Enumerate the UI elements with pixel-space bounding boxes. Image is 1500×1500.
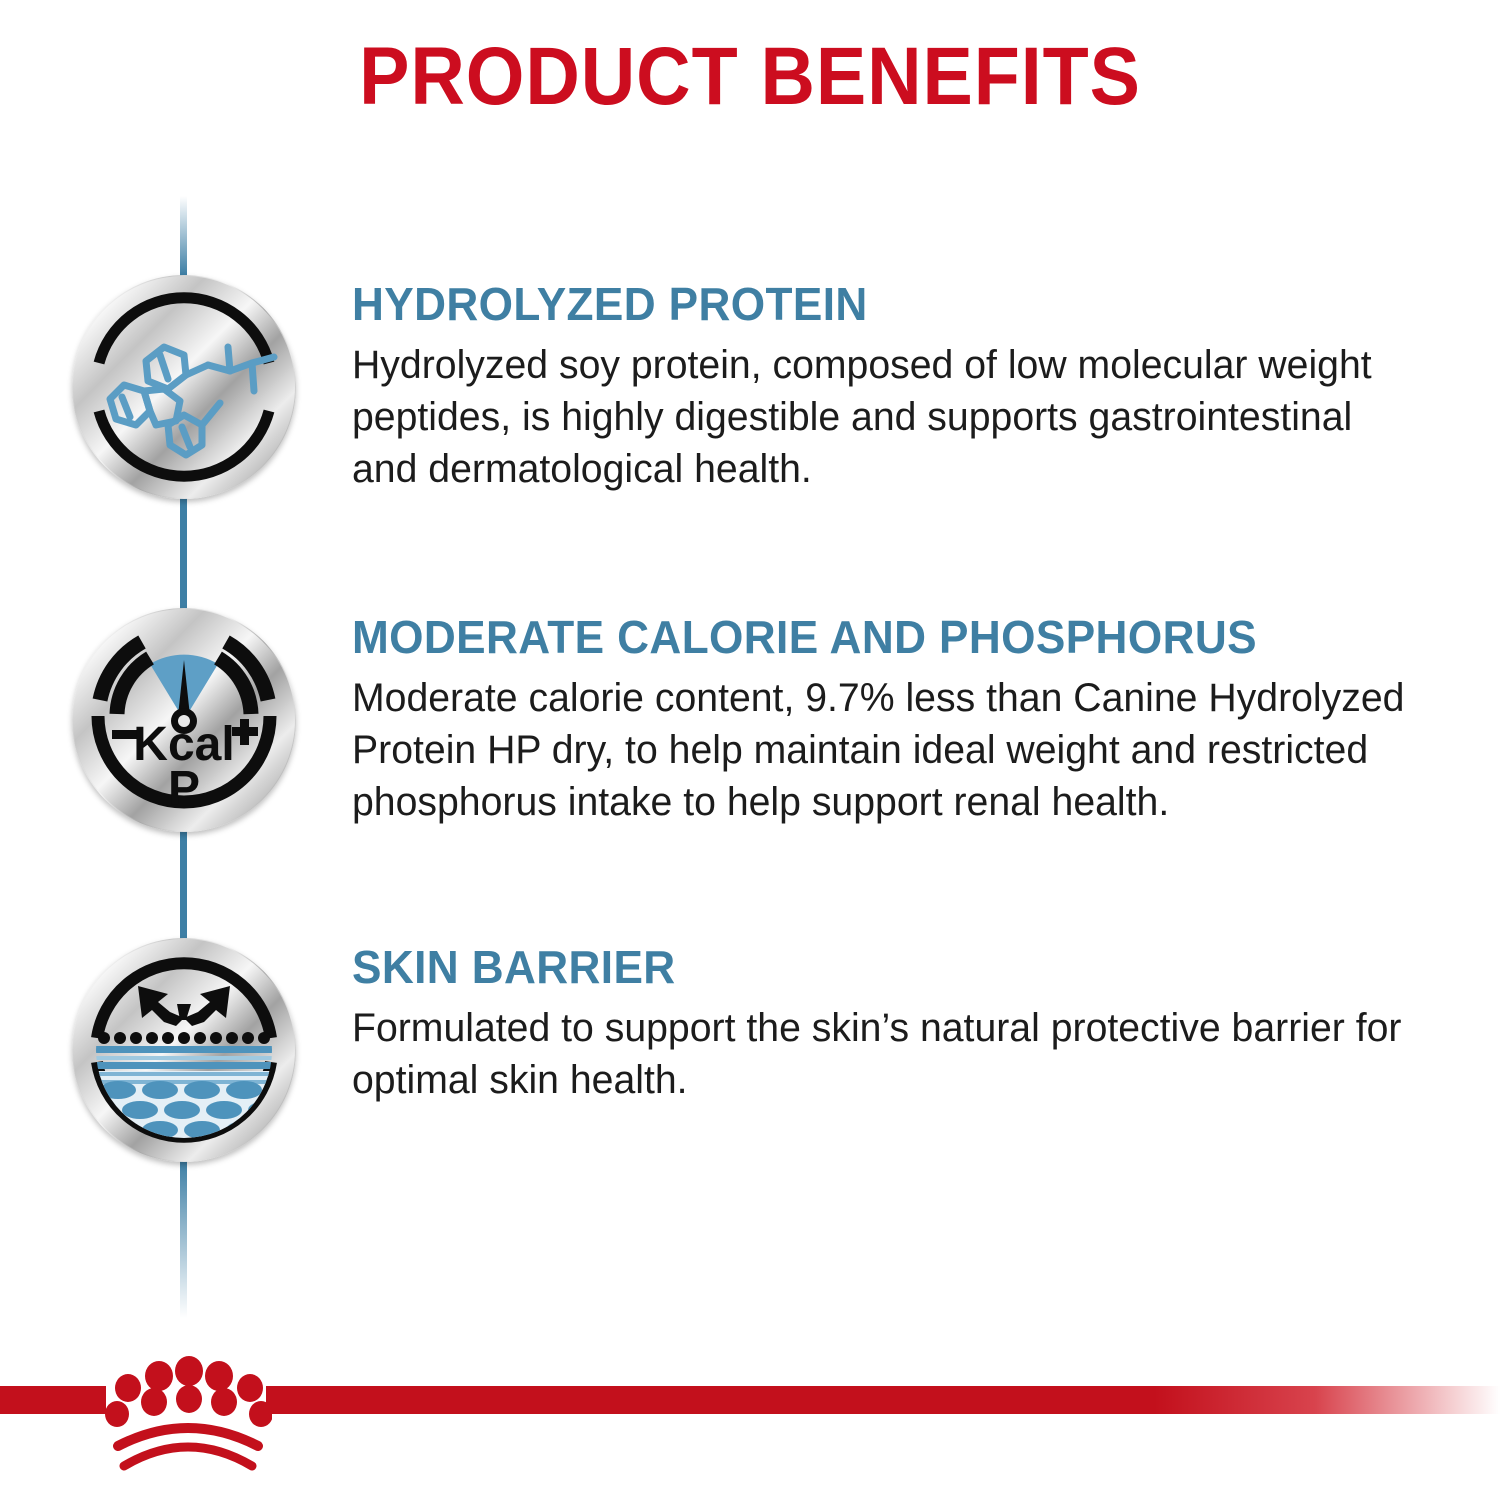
- molecule-icon: [72, 275, 296, 499]
- benefit-heading: MODERATE CALORIE AND PHOSPHORUS: [352, 614, 1389, 660]
- benefit-body: Formulated to support the skin’s natural…: [352, 1002, 1410, 1106]
- footer: [0, 1350, 1500, 1500]
- benefit-text-block: SKIN BARRIER Formulated to support the s…: [352, 944, 1432, 1106]
- benefit-text-block: MODERATE CALORIE AND PHOSPHORUS Moderate…: [352, 614, 1432, 828]
- benefit-heading: SKIN BARRIER: [352, 944, 1389, 990]
- gauge-p-label: P: [168, 762, 200, 815]
- royal-canin-crown-logo: [104, 1354, 272, 1474]
- benefit-body: Moderate calorie content, 9.7% less than…: [352, 672, 1410, 828]
- skin-barrier-icon: [72, 938, 296, 1162]
- benefit-heading: HYDROLYZED PROTEIN: [352, 281, 1389, 327]
- footer-bar-left: [0, 1386, 106, 1414]
- benefit-text-block: HYDROLYZED PROTEIN Hydrolyzed soy protei…: [352, 281, 1432, 495]
- gauge-kcal-p-icon: Kcal P: [72, 608, 296, 832]
- page-title: PRODUCT BENEFITS: [60, 36, 1440, 118]
- footer-bar-right: [266, 1386, 1500, 1414]
- benefit-body: Hydrolyzed soy protein, composed of low …: [352, 339, 1410, 495]
